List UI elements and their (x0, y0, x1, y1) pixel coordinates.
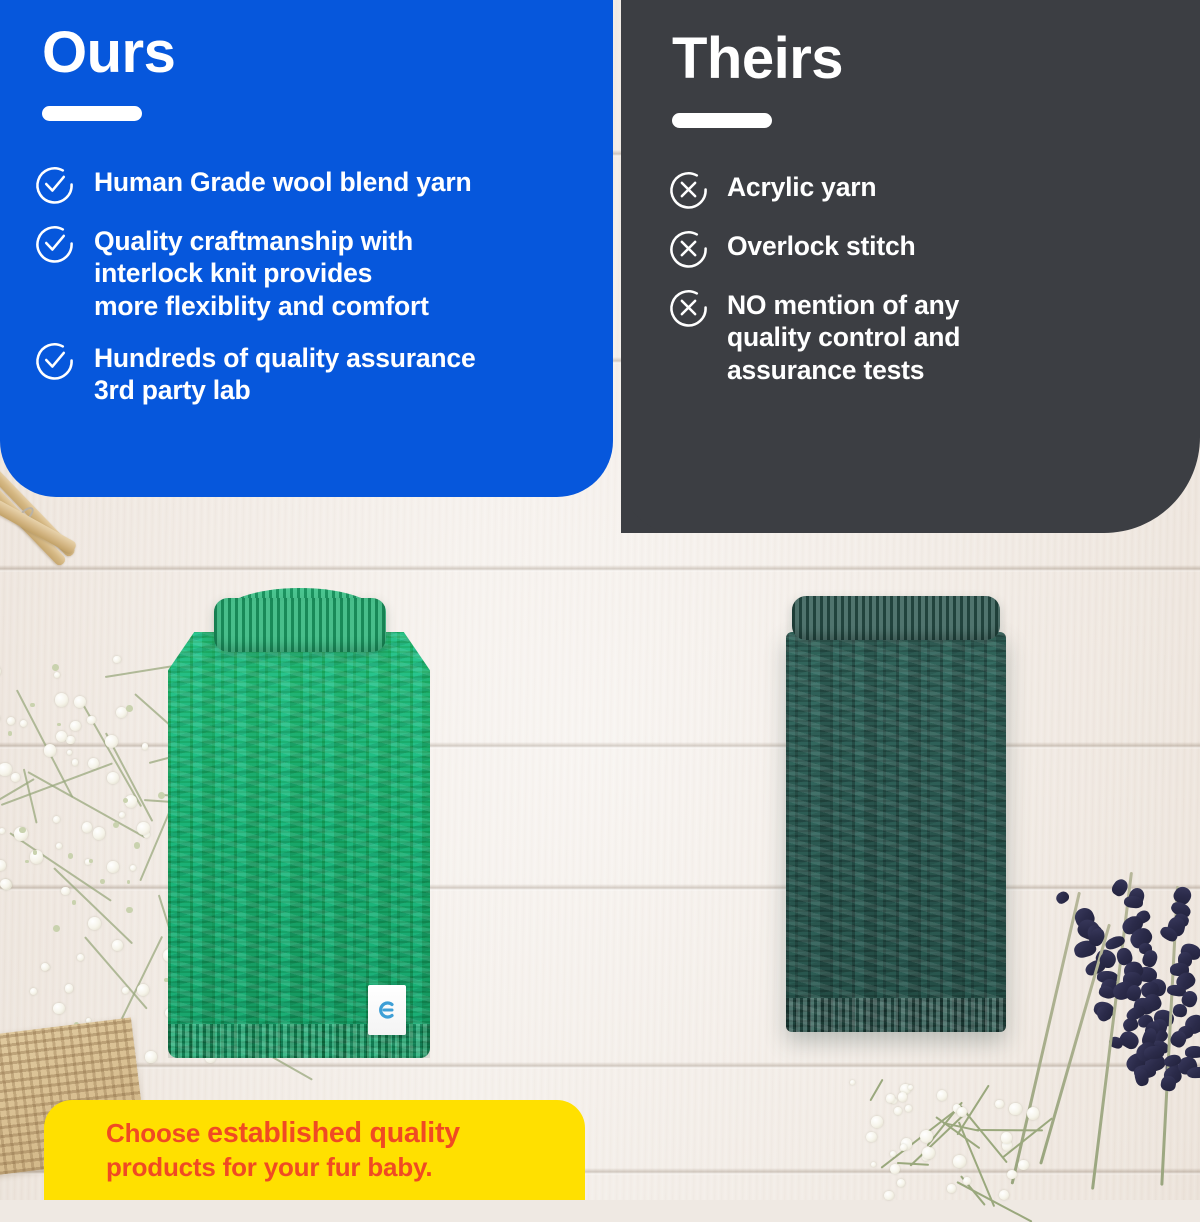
flower-blossom (30, 988, 37, 995)
flower-blossom (142, 743, 148, 749)
product-theirs-sweater (786, 588, 1006, 1032)
feature-text: Hundreds of quality assurance 3rd party … (94, 339, 476, 407)
flower-blossom (107, 861, 119, 873)
check-circle-icon (34, 340, 75, 381)
flower-bud (113, 822, 119, 828)
flower-blossom (54, 672, 61, 679)
flower-blossom (65, 984, 73, 992)
flower-blossom (1001, 1132, 1012, 1143)
flower-blossom (886, 1094, 895, 1103)
flower-blossom (0, 860, 6, 871)
flower-blossom (122, 987, 129, 994)
flower-blossom (850, 1080, 855, 1085)
flower-blossom (0, 666, 1, 678)
feature-item: NO mention of any quality control and as… (668, 286, 1178, 386)
flower-blossom (890, 1164, 900, 1174)
flower-blossom (999, 1190, 1009, 1200)
flower-blossom (905, 1105, 912, 1112)
lavender-bud (1144, 1045, 1164, 1059)
product-ours-sweater (168, 580, 430, 1058)
flower-stem (54, 867, 134, 944)
flower-blossom (88, 917, 101, 930)
flower-stem (79, 698, 142, 807)
banner-line-1-strong: established quality (207, 1117, 460, 1149)
flower-bud (53, 925, 60, 932)
feature-item: Quality craftmanship with interlock knit… (34, 222, 604, 322)
flower-blossom (871, 1116, 882, 1127)
flower-blossom (67, 750, 72, 755)
feature-text: Quality craftmanship with interlock knit… (94, 222, 429, 322)
flower-blossom (908, 1085, 913, 1090)
flower-blossom (130, 865, 136, 871)
flower-blossom (898, 1092, 907, 1101)
plank-seam (0, 565, 1200, 572)
brand-tag (368, 985, 406, 1035)
flower-blossom (890, 1151, 896, 1157)
flower-blossom (55, 693, 69, 707)
flower-blossom (0, 763, 12, 777)
flower-blossom (947, 1184, 956, 1193)
flower-blossom (119, 812, 125, 818)
flower-blossom (1009, 1103, 1022, 1116)
cable-braid-texture (786, 632, 1006, 1032)
flower-blossom (137, 822, 149, 834)
flower-blossom (82, 822, 93, 833)
x-circle-icon (668, 169, 709, 210)
babys-breath-flowers-secondary (850, 1080, 1050, 1210)
panel-ours-title-rule (42, 106, 142, 121)
flower-stem (956, 1181, 1031, 1222)
flower-blossom (1027, 1107, 1039, 1119)
flower-blossom (72, 759, 79, 766)
check-circle-icon (34, 223, 75, 264)
sweater-body (786, 632, 1006, 1032)
flower-bud (123, 798, 128, 803)
flower-blossom (137, 984, 149, 996)
flower-blossom (884, 1191, 894, 1201)
flower-blossom (963, 1177, 971, 1185)
flower-blossom (995, 1100, 1003, 1108)
flower-blossom (112, 940, 123, 951)
feature-text: Human Grade wool blend yarn (94, 163, 471, 198)
flower-blossom (871, 1162, 876, 1167)
x-circle-icon (668, 287, 709, 328)
flower-blossom (922, 1147, 934, 1159)
flower-blossom (44, 744, 57, 757)
flower-blossom (66, 736, 75, 745)
bottom-banner: Choose established quality products for … (44, 1100, 585, 1200)
x-circle-icon (668, 228, 709, 269)
flower-blossom (0, 828, 5, 834)
flower-blossom (93, 827, 106, 840)
flower-bud (72, 900, 76, 904)
flower-bud (126, 705, 133, 712)
sweater-collar (792, 596, 1000, 640)
flower-bud (19, 827, 26, 834)
flower-bud (134, 842, 140, 848)
sweater-collar (214, 598, 386, 652)
flower-blossom (937, 1090, 948, 1101)
flower-blossom (107, 772, 119, 784)
feature-text: Overlock stitch (727, 227, 915, 262)
flower-bud (68, 853, 73, 858)
flower-blossom (53, 816, 60, 823)
flower-bud (89, 859, 93, 863)
banner-line-1-prefix: Choose (106, 1118, 207, 1148)
check-circle-icon (34, 164, 75, 205)
flower-bud (126, 907, 132, 913)
flower-blossom (897, 1179, 905, 1187)
flower-blossom (70, 721, 81, 732)
flower-blossom (866, 1132, 876, 1142)
brand-monogram-icon (375, 998, 399, 1022)
flower-blossom (957, 1107, 967, 1117)
flower-bud (52, 664, 59, 671)
flower-blossom (61, 887, 70, 896)
flower-blossom (53, 1003, 65, 1015)
feature-list-ours: Human Grade wool blend yarn Quality craf… (34, 163, 604, 424)
lavender-bud (1054, 889, 1071, 905)
flower-bud (57, 723, 61, 727)
flower-blossom (7, 717, 15, 725)
flower-bud (100, 879, 105, 884)
flower-bud (25, 860, 28, 863)
flower-blossom (953, 1155, 966, 1168)
flower-blossom (41, 963, 49, 971)
flower-bud (30, 703, 34, 707)
flower-bud (8, 731, 12, 735)
flower-stem (881, 1110, 956, 1168)
feature-item: Acrylic yarn (668, 168, 1178, 210)
flower-stem (869, 1079, 883, 1101)
flower-blossom (11, 773, 20, 782)
feature-text: NO mention of any quality control and as… (727, 286, 960, 386)
panel-ours-title: Ours (42, 24, 175, 82)
flower-blossom (1018, 1160, 1029, 1171)
banner-line-2: products for your fur baby. (106, 1152, 585, 1183)
flower-bud (127, 880, 131, 884)
flower-blossom (105, 735, 118, 748)
feature-text: Acrylic yarn (727, 168, 876, 203)
feature-item: Hundreds of quality assurance 3rd party … (34, 339, 604, 407)
panel-theirs-title-rule (672, 113, 772, 128)
flower-blossom (113, 656, 121, 664)
panel-theirs-title: Theirs (672, 30, 843, 88)
flower-bud (158, 792, 165, 799)
flower-blossom (0, 879, 11, 890)
flower-blossom (20, 720, 27, 727)
banner-line-1: Choose established quality (106, 1117, 585, 1151)
flower-blossom (145, 1051, 157, 1063)
flower-blossom (56, 843, 62, 849)
flower-stem (976, 1129, 1043, 1131)
flower-blossom (77, 954, 85, 962)
flower-blossom (894, 1107, 902, 1115)
flower-blossom (1007, 1170, 1017, 1180)
feature-item: Overlock stitch (668, 227, 1178, 269)
flower-blossom (900, 1144, 907, 1151)
sweater-hem-ribbing (786, 998, 1006, 1032)
feature-list-theirs: Acrylic yarn Overlock stitch NO mention … (668, 168, 1178, 403)
feature-item: Human Grade wool blend yarn (34, 163, 604, 205)
